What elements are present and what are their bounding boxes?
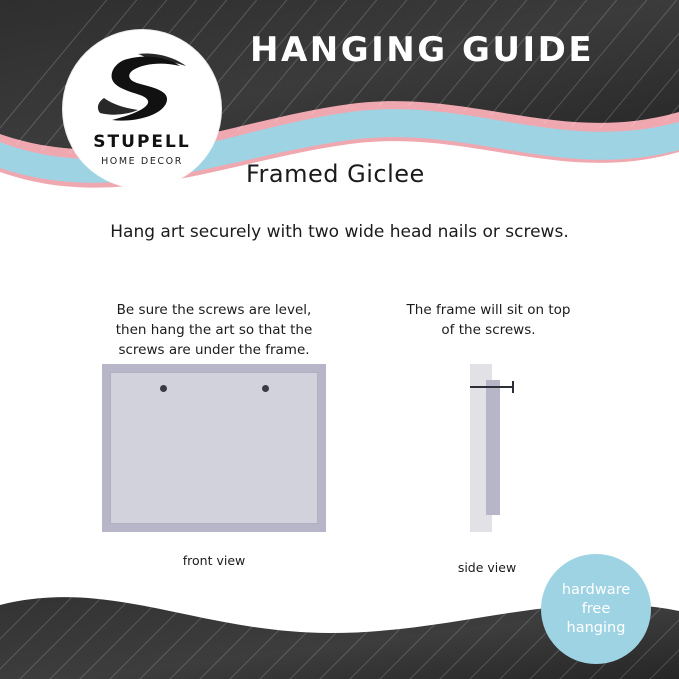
hanging-guide-page: HANGING GUIDE STUPELL HOME DECOR Framed … xyxy=(0,0,679,679)
product-type: Framed Giclee xyxy=(246,160,425,188)
screw-left-icon xyxy=(160,385,167,392)
screw-right-icon xyxy=(262,385,269,392)
front-view-caption: Be sure the screws are level, then hang … xyxy=(96,300,332,360)
stupell-swoosh-icon xyxy=(94,52,190,126)
instruction-text: Hang art securely with two wide head nai… xyxy=(0,222,679,242)
hardware-free-badge-text: hardware free hanging xyxy=(562,581,630,638)
front-view-diagram xyxy=(102,364,326,532)
hardware-free-badge: hardware free hanging xyxy=(541,554,651,664)
side-view-screw-head-icon xyxy=(512,381,514,393)
side-view-caption: The frame will sit on top of the screws. xyxy=(386,300,591,340)
logo: STUPELL HOME DECOR xyxy=(63,30,221,188)
logo-tagline: HOME DECOR xyxy=(63,156,221,167)
side-view-screw-icon xyxy=(470,386,514,388)
front-view-artboard xyxy=(110,372,318,524)
logo-wordmark: STUPELL xyxy=(63,132,221,152)
side-view-frame xyxy=(486,380,500,515)
page-title: HANGING GUIDE xyxy=(250,30,594,70)
